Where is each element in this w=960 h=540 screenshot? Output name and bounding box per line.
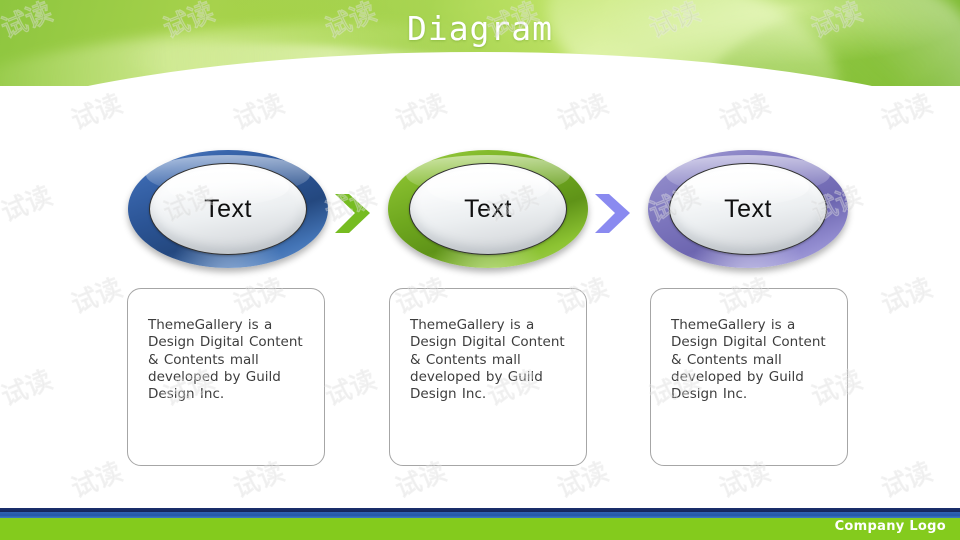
watermark-text: 试读 (389, 84, 451, 138)
watermark-text: 试读 (227, 84, 289, 138)
node-3[interactable]: Text (648, 150, 848, 268)
textbox-1[interactable]: ThemeGallery is a Design Digital Content… (127, 288, 325, 466)
node-2-inner: Text (409, 163, 567, 255)
node-1-label: Text (204, 195, 252, 224)
node-1-inner: Text (149, 163, 307, 255)
node-1[interactable]: Text (128, 150, 328, 268)
nodes-row: Text Text Text (0, 150, 960, 280)
watermark-text: 试读 (713, 84, 775, 138)
slide-canvas: Diagram Text Text Text (0, 0, 960, 540)
header-white-arc (0, 52, 960, 86)
chevron-right-icon-2 (593, 192, 633, 236)
node-3-inner: Text (669, 163, 827, 255)
footer-green-bar (0, 518, 960, 540)
company-logo-label: Company Logo (835, 519, 946, 534)
chevron-right-icon-1 (333, 192, 373, 236)
textboxes-row: ThemeGallery is a Design Digital Content… (0, 288, 960, 466)
textbox-1-body: ThemeGallery is a Design Digital Content… (148, 317, 308, 403)
node-3-label: Text (724, 195, 772, 224)
textbox-2[interactable]: ThemeGallery is a Design Digital Content… (389, 288, 587, 466)
slide-footer: Company Logo (0, 508, 960, 540)
textbox-2-body: ThemeGallery is a Design Digital Content… (410, 317, 570, 403)
textbox-3[interactable]: ThemeGallery is a Design Digital Content… (650, 288, 848, 466)
watermark-text: 试读 (875, 84, 937, 138)
watermark-text: 试读 (65, 84, 127, 138)
textbox-3-body: ThemeGallery is a Design Digital Content… (671, 317, 831, 403)
node-2[interactable]: Text (388, 150, 588, 268)
page-title: Diagram (0, 9, 960, 48)
node-2-label: Text (464, 195, 512, 224)
watermark-text: 试读 (551, 84, 613, 138)
